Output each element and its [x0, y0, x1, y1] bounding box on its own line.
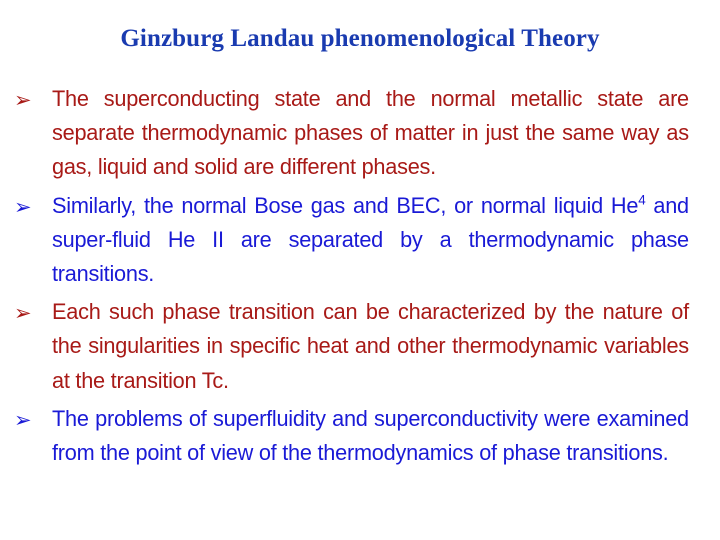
arrowhead-bullet-icon: ➢ [14, 403, 44, 437]
list-item-text-before: Similarly, the normal Bose gas and BEC, … [52, 193, 638, 218]
list-item: ➢ The superconducting state and the norm… [10, 82, 710, 185]
list-item-text-before: Each such phase transition can be charac… [52, 299, 689, 392]
slide-canvas: Ginzburg Landau phenomenological Theory … [0, 0, 720, 540]
bullet-list: ➢ The superconducting state and the norm… [10, 82, 710, 474]
arrowhead-bullet-icon: ➢ [14, 296, 44, 330]
list-item: ➢ Similarly, the normal Bose gas and BEC… [10, 189, 710, 292]
list-item-text-after: . [430, 154, 436, 179]
list-item: ➢ Each such phase transition can be char… [10, 295, 710, 398]
list-item-text-before: The problems of superfluidity and superc… [52, 406, 689, 465]
arrowhead-bullet-icon: ➢ [14, 83, 44, 117]
page-title: Ginzburg Landau phenomenological Theory [0, 24, 720, 54]
list-item-text: Each such phase transition can be charac… [52, 295, 689, 398]
list-item-text: Similarly, the normal Bose gas and BEC, … [52, 189, 689, 292]
arrowhead-bullet-icon: ➢ [14, 190, 44, 224]
list-item-text: The problems of superfluidity and superc… [52, 402, 689, 470]
superscript-isotope: 4 [638, 191, 645, 207]
list-item: ➢ The problems of superfluidity and supe… [10, 402, 710, 470]
list-item-text: The superconducting state and the normal… [52, 82, 689, 185]
list-item-text-before: The superconducting state and the normal… [52, 86, 689, 179]
